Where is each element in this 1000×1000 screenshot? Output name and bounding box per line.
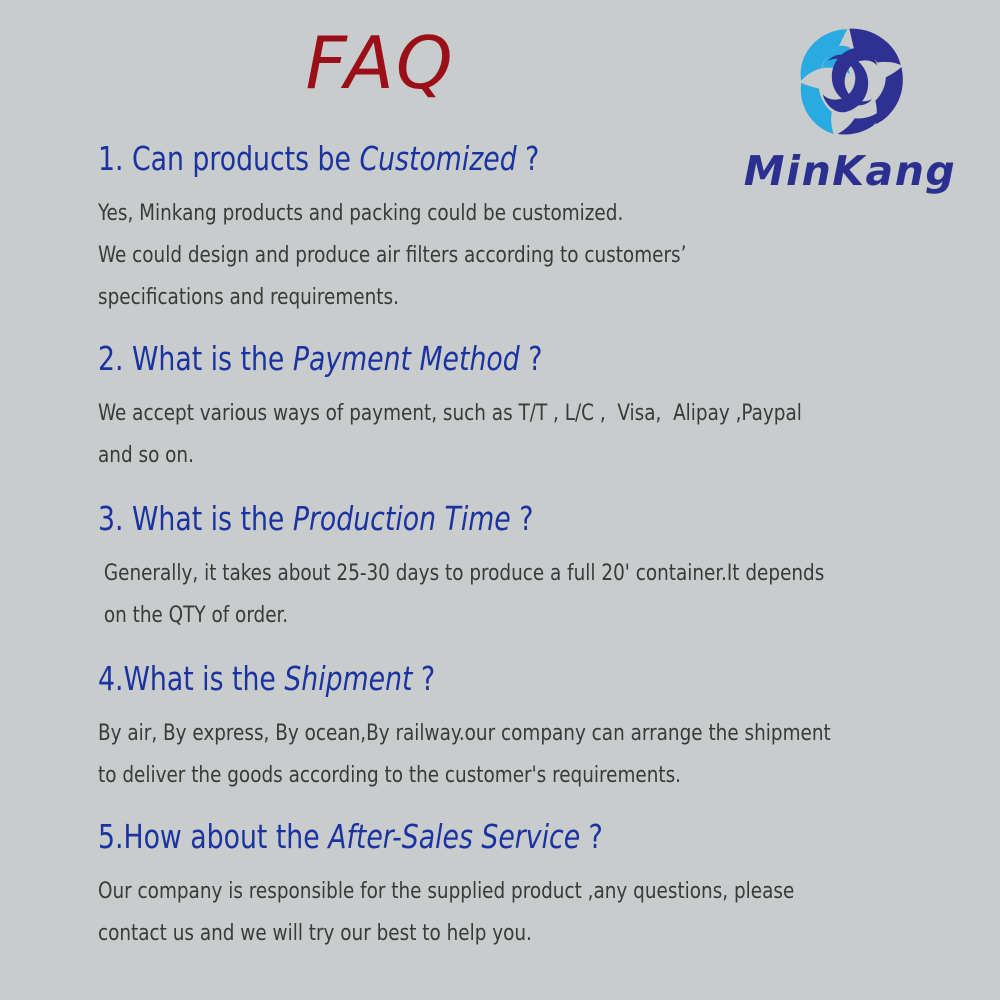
faq-question-emphasis-2: Payment Method <box>293 339 520 378</box>
faq-question-emphasis-1: Customized <box>359 139 516 178</box>
faq-item-5: 5.How about the After-Sales Service ? Ou… <box>98 817 978 955</box>
faq-item-1: 1. Can products be Customized ? Yes, Min… <box>98 139 978 319</box>
faq-question-5: 5.How about the After-Sales Service ? <box>98 817 890 857</box>
faq-question-tail-2: ? <box>520 339 543 378</box>
faq-answer-2-line-1: We accept various ways of payment, such … <box>98 393 916 435</box>
faq-answer-1-line-3: specifications and requirements. <box>98 277 916 319</box>
faq-question-lead-1: Can products be <box>132 139 359 178</box>
faq-question-emphasis-3: Production Time <box>293 499 511 538</box>
faq-answer-5-line-1: Our company is responsible for the suppl… <box>98 871 916 913</box>
faq-answer-3-line-2: on the QTY of order. <box>98 595 916 637</box>
faq-item-2: 2. What is the Payment Method ? We accep… <box>98 339 978 477</box>
faq-question-lead-5: How about the <box>123 817 328 856</box>
faq-question-tail-5: ? <box>580 817 603 856</box>
faq-question-1: 1. Can products be Customized ? <box>98 139 890 179</box>
page-header: FAQ <box>0 0 1000 128</box>
faq-question-number-5: 5. <box>98 817 123 856</box>
faq-question-emphasis-4: Shipment <box>284 659 412 698</box>
faq-answer-1-line-2: We could design and produce air filters … <box>98 235 916 277</box>
faq-item-3: 3. What is the Production Time ? General… <box>98 499 978 637</box>
faq-question-tail-4: ? <box>413 659 436 698</box>
faq-question-number-4: 4. <box>98 659 123 698</box>
faq-answer-2-line-2: and so on. <box>98 435 916 477</box>
faq-question-2: 2. What is the Payment Method ? <box>98 339 890 379</box>
faq-answer-4-line-2: to deliver the goods according to the cu… <box>98 755 916 797</box>
faq-question-3: 3. What is the Production Time ? <box>98 499 890 539</box>
faq-question-tail-3: ? <box>511 499 534 538</box>
faq-item-4: 4.What is the Shipment ? By air, By expr… <box>98 659 978 797</box>
minkang-pinwheel-logo-icon <box>785 15 915 145</box>
faq-question-lead-3: What is the <box>132 499 293 538</box>
faq-question-number-3: 3. <box>98 499 132 538</box>
faq-page: FAQ <box>0 0 1000 1000</box>
faq-answer-4-line-1: By air, By express, By ocean,By railway.… <box>98 713 916 755</box>
page-title: FAQ <box>0 24 760 102</box>
faq-question-4: 4.What is the Shipment ? <box>98 659 890 699</box>
faq-answer-1-line-1: Yes, Minkang products and packing could … <box>98 193 916 235</box>
faq-answer-5-line-2: contact us and we will try our best to h… <box>98 913 916 955</box>
faq-list: 1. Can products be Customized ? Yes, Min… <box>98 133 978 955</box>
faq-question-emphasis-5: After-Sales Service <box>328 817 580 856</box>
faq-question-number-1: 1. <box>98 139 132 178</box>
faq-question-lead-4: What is the <box>123 659 284 698</box>
faq-answer-3-line-1: Generally, it takes about 25-30 days to … <box>98 553 916 595</box>
faq-question-lead-2: What is the <box>132 339 293 378</box>
faq-question-number-2: 2. <box>98 339 132 378</box>
faq-question-tail-1: ? <box>517 139 540 178</box>
